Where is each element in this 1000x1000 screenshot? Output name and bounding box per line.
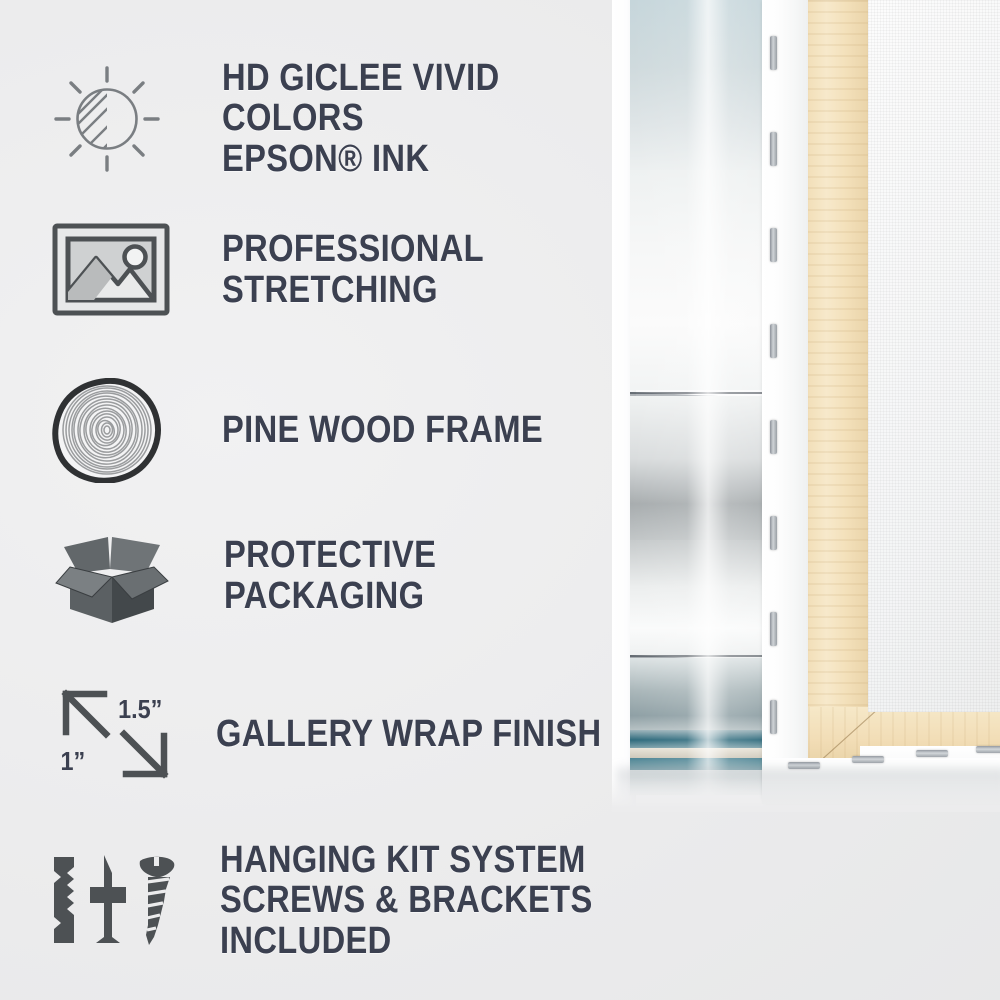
staple [770, 228, 777, 262]
feature-label-stretching: PROFESSIONAL STRETCHING [222, 229, 633, 310]
canvas-fold-edge [762, 0, 808, 800]
printed-art-edge [630, 0, 780, 795]
dimension-bottom-label: 1” [61, 748, 86, 776]
staple [770, 324, 777, 358]
feature-list: HD GICLEE VIVID COLORS EPSON® INK PROFES… [0, 0, 700, 1000]
feature-row-stretching: PROFESSIONAL STRETCHING [52, 222, 700, 317]
open-box-icon [52, 523, 172, 628]
dimension-top-label: 1.5” [118, 696, 162, 724]
staple [770, 612, 777, 646]
staple [916, 750, 948, 757]
feature-label-gallery-wrap: GALLERY WRAP FINISH [216, 714, 601, 754]
sun-icon [52, 64, 162, 174]
hanging-kit-icon [48, 851, 176, 949]
dimension-arrows-icon: 1.5” 1” [56, 688, 174, 780]
feature-label-packaging: PROTECTIVE PACKAGING [224, 535, 633, 616]
feature-row-hanging-kit: HANGING KIT SYSTEM SCREWS & BRACKETS INC… [48, 840, 700, 961]
feature-label-giclee: HD GICLEE VIVID COLORS EPSON® INK [222, 58, 633, 179]
staple [770, 700, 777, 734]
feature-row-gallery-wrap: 1.5” 1” GALLERY WRAP FINISH [56, 688, 664, 780]
staple [976, 746, 1000, 753]
staple [770, 516, 777, 550]
wood-rings-icon [52, 378, 162, 483]
photo-bottom-fade [612, 778, 1000, 812]
pine-stretcher-bar-vertical [808, 0, 870, 768]
framed-picture-icon [52, 222, 170, 317]
canvas-back-panel [868, 0, 1000, 712]
feature-row-giclee: HD GICLEE VIVID COLORS EPSON® INK [52, 60, 700, 179]
feature-row-packaging: PROTECTIVE PACKAGING [52, 523, 700, 628]
staple [852, 756, 884, 763]
feature-row-pine-frame: PINE WOOD FRAME [52, 378, 595, 483]
canvas-edge-photo [612, 0, 1000, 812]
staple [770, 36, 777, 70]
staple [770, 420, 777, 454]
infographic-canvas: HD GICLEE VIVID COLORS EPSON® INK PROFES… [0, 0, 1000, 1000]
feature-label-pine-frame: PINE WOOD FRAME [222, 410, 543, 450]
feature-label-hanging-kit: HANGING KIT SYSTEM SCREWS & BRACKETS INC… [220, 840, 633, 961]
staple [770, 132, 777, 166]
